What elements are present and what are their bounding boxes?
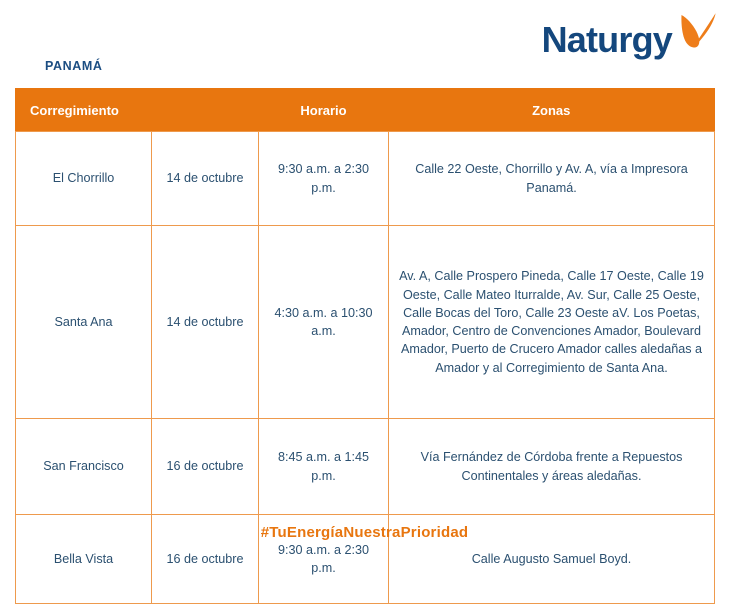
region-label: PANAMÁ: [45, 60, 103, 73]
campaign-hashtag: #TuEnergíaNuestraPrioridad: [261, 524, 468, 541]
table-row: San Francisco 16 de octubre 8:45 a.m. a …: [16, 419, 715, 515]
cell-horario: 4:30 a.m. a 10:30 a.m.: [259, 226, 389, 419]
cell-fecha: 16 de octubre: [152, 419, 259, 515]
column-header-zonas: Zonas: [389, 89, 715, 132]
cell-corregimiento: San Francisco: [16, 419, 152, 515]
cell-corregimiento: El Chorrillo: [16, 132, 152, 226]
cell-fecha: 14 de octubre: [152, 226, 259, 419]
column-header-horario: Horario: [259, 89, 389, 132]
table-row: Santa Ana 14 de octubre 4:30 a.m. a 10:3…: [16, 226, 715, 419]
table-header-row: Corregimiento Horario Zonas: [16, 89, 715, 132]
cell-corregimiento: Santa Ana: [16, 226, 152, 419]
table-row: El Chorrillo 14 de octubre 9:30 a.m. a 2…: [16, 132, 715, 226]
cell-horario: 8:45 a.m. a 1:45 p.m.: [259, 419, 389, 515]
column-header-fecha: [152, 89, 259, 132]
naturgy-wordmark: Naturgy: [542, 22, 672, 58]
page-footer: #TuEnergíaNuestraPrioridad: [0, 524, 729, 542]
column-header-corregimiento: Corregimiento: [16, 89, 152, 132]
cell-zonas: Av. A, Calle Prospero Pineda, Calle 17 O…: [389, 226, 715, 419]
cell-fecha: 14 de octubre: [152, 132, 259, 226]
cell-horario: 9:30 a.m. a 2:30 p.m.: [259, 132, 389, 226]
cell-zonas: Vía Fernández de Córdoba frente a Repues…: [389, 419, 715, 515]
naturgy-flame-icon: [673, 9, 721, 57]
cell-zonas: Calle 22 Oeste, Chorrillo y Av. A, vía a…: [389, 132, 715, 226]
page-header: PANAMÁ Naturgy: [0, 0, 729, 88]
naturgy-logo: Naturgy: [542, 14, 721, 66]
schedule-page: PANAMÁ Naturgy Corregimiento Horario: [0, 0, 729, 550]
